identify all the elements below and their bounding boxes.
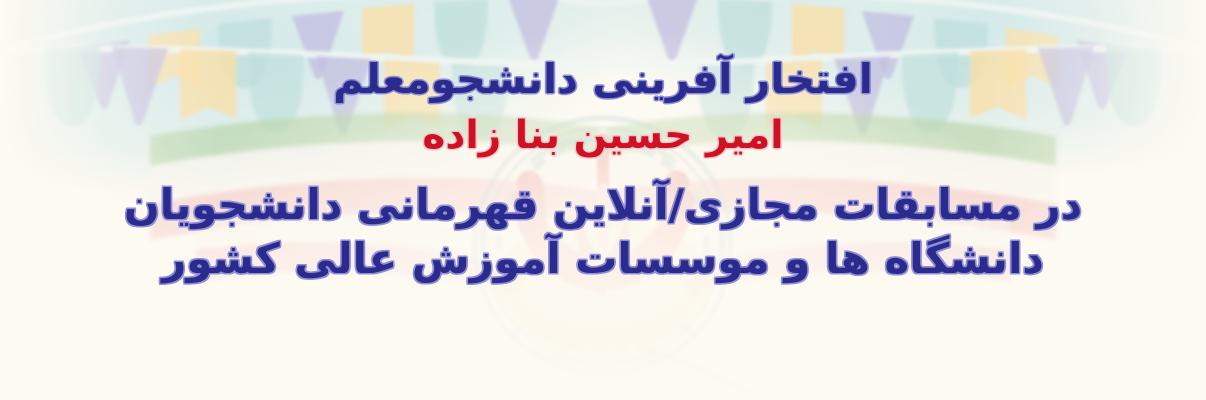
congratulations-banner: افتخار آفرینی دانشجومعلم امیر حسین بنا ز… <box>0 0 1206 400</box>
headline-line-3: در مسابقات مجازی/آنلاین قهرمانی دانشجویا… <box>124 183 1082 228</box>
headline-line-2-student-name: امیر حسین بنا زاده <box>422 115 783 156</box>
headline-line-1: افتخار آفرینی دانشجومعلم <box>333 58 873 101</box>
headline-line-4: دانشگاه ها و موسسات آموزش عالی کشور <box>162 237 1044 282</box>
headline-text-block: افتخار آفرینی دانشجومعلم امیر حسین بنا ز… <box>0 0 1206 400</box>
